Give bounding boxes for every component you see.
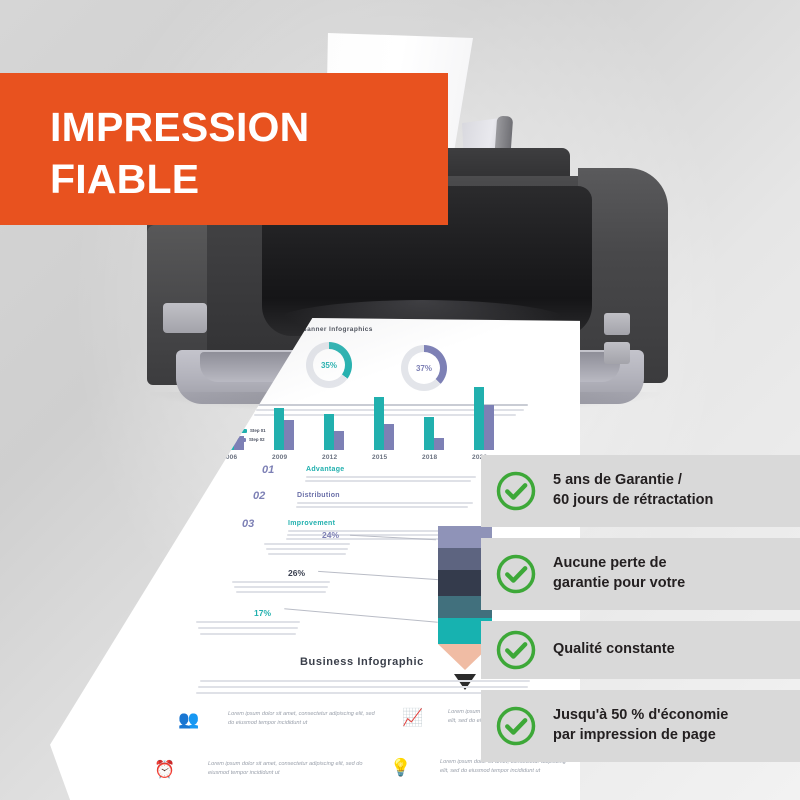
check-circle-icon: [495, 470, 537, 512]
donut-value-1: 35%: [306, 342, 352, 388]
lightbulb-icon: 💡: [390, 758, 411, 778]
list-number-03: 03: [242, 518, 254, 530]
bar-2015-step-01: [374, 397, 384, 450]
funnel-value-2: 26%: [288, 568, 305, 578]
bar-2009-step-01: [274, 408, 284, 450]
headline-banner: IMPRESSION FIABLE: [0, 73, 448, 225]
list-body-line: [296, 506, 468, 508]
printer-button-right-top: [604, 313, 630, 335]
funnel-body-line: [198, 627, 298, 629]
funnel-body-line: [232, 581, 330, 583]
funnel-value-1: 24%: [322, 530, 339, 540]
funnel-body-line: [236, 591, 326, 593]
list-title-03: Improvement: [288, 520, 335, 527]
printer-button-left: [163, 303, 207, 333]
funnel-value-3: 17%: [254, 608, 271, 618]
promo-banner-image: Banner Infographics 35% 37% Step 01: [0, 0, 800, 800]
funnel-body-line: [266, 548, 348, 550]
feature-item[interactable]: 5 ans de Garantie / 60 jours de rétracta…: [481, 455, 800, 527]
feature-item[interactable]: Qualité constante: [481, 621, 800, 679]
icon-item-text-3: Lorem ipsum dolor sit amet, consectetur …: [208, 760, 364, 777]
infographic-title: Banner Infographics: [302, 326, 373, 333]
leader-line-2: [318, 571, 438, 580]
growth-chart-icon: 📈: [402, 708, 423, 728]
bar-category-label: 2009: [272, 454, 287, 461]
list-number-01: 01: [262, 464, 274, 476]
funnel-body-line: [234, 586, 328, 588]
check-circle-icon: [495, 629, 537, 671]
list-number-02: 02: [253, 490, 265, 502]
feature-label: 5 ans de Garantie / 60 jours de rétracta…: [553, 471, 713, 510]
list-body-line: [306, 476, 476, 478]
section-title: Business Infographic: [300, 656, 424, 668]
feature-item[interactable]: Aucune perte de garantie pour votre: [481, 538, 800, 610]
bar-2009-step-02: [284, 420, 294, 450]
feature-label: Aucune perte de garantie pour votre: [553, 554, 685, 593]
headline-text: IMPRESSION FIABLE: [50, 101, 309, 206]
feature-list: 5 ans de Garantie / 60 jours de rétracta…: [481, 455, 800, 773]
bar-2023-step-01: [474, 387, 484, 450]
list-title-01: Advantage: [306, 466, 345, 473]
bar-category-label: 2018: [422, 454, 437, 461]
printer-button-right-bottom: [604, 342, 630, 364]
feature-label: Qualité constante: [553, 640, 675, 660]
bar-2018-step-01: [424, 417, 434, 450]
bar-2023-step-02: [484, 405, 494, 450]
clock-phone-icon: ⏰: [154, 760, 175, 780]
feature-item[interactable]: Jusqu'à 50 % d'économie par impression d…: [481, 690, 800, 762]
pencil-lead: [454, 674, 476, 690]
bar-2012-step-02: [334, 431, 344, 450]
funnel-body-line: [200, 633, 296, 635]
feature-label: Jusqu'à 50 % d'économie par impression d…: [553, 706, 728, 745]
leader-line-3: [284, 608, 438, 622]
check-circle-icon: [495, 553, 537, 595]
funnel-body-line: [268, 553, 346, 555]
bar-category-label: 2012: [322, 454, 337, 461]
list-body-line: [305, 480, 471, 482]
people-group-icon: 👥: [178, 710, 199, 730]
bar-2018-step-02: [434, 438, 444, 450]
funnel-body-line: [196, 621, 300, 623]
bar-2012-step-01: [324, 414, 334, 450]
bar-category-label: 2015: [372, 454, 387, 461]
bar-2015-step-02: [384, 424, 394, 450]
funnel-body-line: [264, 543, 350, 545]
list-title-02: Distribution: [297, 492, 340, 499]
check-circle-icon: [495, 705, 537, 747]
icon-item-text-1: Lorem ipsum dolor sit amet, consectetur …: [228, 710, 378, 727]
list-body-line: [297, 502, 473, 504]
body-line: [198, 686, 528, 688]
body-line: [196, 692, 522, 694]
donut-chart-1: 35%: [306, 342, 352, 388]
